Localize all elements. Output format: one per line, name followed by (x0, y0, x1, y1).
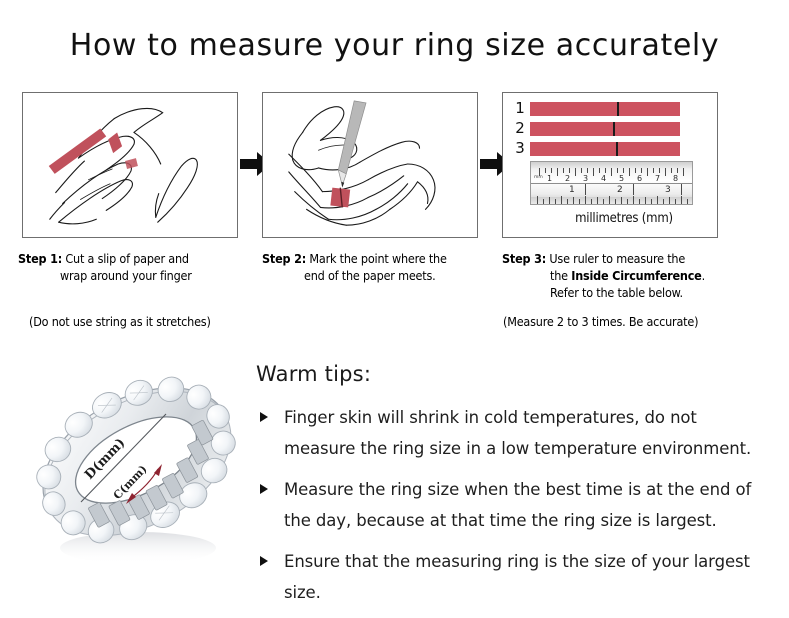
warm-tips-section: Warm tips: Finger skin will shrink in co… (256, 362, 766, 618)
strip-tick-mark (617, 102, 619, 116)
ruler-cm-label: 4 (601, 174, 606, 183)
paper-strip-row: 2 (513, 122, 709, 136)
step-2-line1: Mark the point where the (309, 251, 446, 266)
step-3-line2: the Inside Circumference. (502, 267, 772, 284)
step-1-note: (Do not use string as it stretches) (29, 314, 211, 329)
ruler-cm-label: 6 (637, 174, 642, 183)
step-2-caption: Step 2: Mark the point where the end of … (262, 250, 498, 284)
ruler-cm-label: 1 (547, 174, 552, 183)
strip-bar (530, 142, 680, 156)
step-1-line1: Cut a slip of paper and (65, 251, 189, 266)
paper-strip-row: 1 (513, 102, 709, 116)
pen-shape (338, 101, 366, 188)
ruler-cm-label: 3 (583, 174, 588, 183)
strip-number: 3 (513, 139, 527, 157)
step-3-note: (Measure 2 to 3 times. Be accurate) (503, 314, 698, 329)
step-1-caption: Step 1: Cut a slip of paper and wrap aro… (18, 250, 258, 284)
ruler-scale-divider (531, 183, 692, 184)
paper-strip-row: 3 (513, 142, 709, 156)
warm-tips-heading: Warm tips: (256, 362, 766, 386)
tip-item: Measure the ring size when the best time… (256, 474, 766, 536)
paper-slip-shape (49, 129, 138, 174)
tip-item: Ensure that the measuring ring is the si… (256, 546, 766, 608)
step-3-line1: Use ruler to measure the (549, 251, 685, 266)
step-3-caption: Step 3: Use ruler to measure the the Ins… (502, 250, 772, 301)
ruler-cm-label: 5 (619, 174, 624, 183)
ruler-unit-label: mm (534, 175, 543, 180)
triangle-bullet-icon (260, 556, 268, 566)
inside-circumference-emphasis: Inside Circumference (571, 268, 701, 283)
strip-bar (530, 122, 680, 136)
tip-text: Ensure that the measuring ring is the si… (284, 552, 750, 602)
step-3-label: Step 3: (502, 251, 546, 266)
tip-text: Measure the ring size when the best time… (284, 480, 751, 530)
tip-item: Finger skin will shrink in cold temperat… (256, 402, 766, 464)
step-1-illustration-panel (22, 92, 238, 238)
ruler-graphic: mm 1 2 3 4 5 6 7 8 1 2 3 (530, 161, 693, 205)
step-2-label: Step 2: (262, 251, 306, 266)
strip-tick-mark (616, 142, 618, 156)
ruler-cm-label: 2 (565, 174, 570, 183)
paper-band-shape (330, 188, 350, 208)
step-1-label: Step 1: (18, 251, 62, 266)
step-3-line2-pre: the (550, 268, 571, 283)
step-2-line2: end of the paper meets. (262, 267, 498, 284)
ruler-inch-label: 3 (665, 185, 671, 195)
ruler-cm-label: 7 (655, 174, 660, 183)
step-3-line3: Refer to the table below. (502, 284, 772, 301)
triangle-bullet-icon (260, 412, 268, 422)
step-1-line2: wrap around your finger (18, 267, 258, 284)
page-title: How to measure your ring size accurately (0, 28, 789, 63)
strip-number: 1 (513, 99, 527, 117)
ruler-inch-label: 1 (569, 185, 575, 195)
ruler-inch-label: 2 (617, 185, 623, 195)
hand-marking-paper-icon (263, 93, 477, 237)
step-3-line2-post: . (702, 268, 705, 283)
ruler-cm-label: 8 (673, 174, 678, 183)
strip-number: 2 (513, 119, 527, 137)
strip-bar (530, 102, 680, 116)
steps-row: 1 2 3 (0, 92, 789, 242)
tip-text: Finger skin will shrink in cold temperat… (284, 408, 751, 458)
ruler-caption: millimetres (mm) (503, 211, 717, 226)
triangle-bullet-icon (260, 484, 268, 494)
hand-with-paper-slip-icon (23, 93, 237, 237)
step-2-illustration-panel (262, 92, 478, 238)
ring-illustration: D(mm) C(mm) (18, 352, 253, 577)
step-3-illustration-panel: 1 2 3 (502, 92, 718, 238)
strip-tick-mark (613, 122, 615, 136)
